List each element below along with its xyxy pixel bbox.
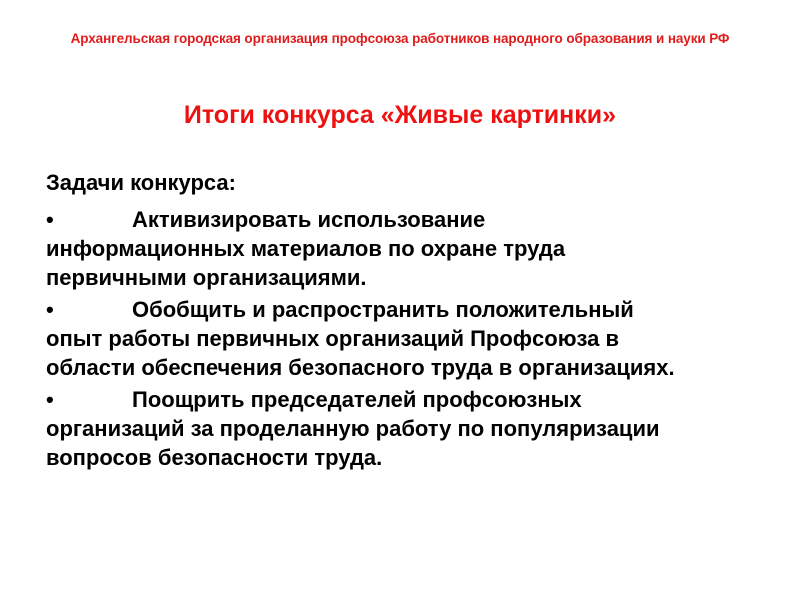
list-item: •Активизировать использование информацио… (46, 205, 686, 292)
bullet-dot-icon: • (46, 295, 132, 324)
slide-title: Итоги конкурса «Живые картинки» (0, 100, 800, 130)
bullet-dot-icon: • (46, 385, 132, 414)
list-item-text: Обобщить и распространить положительный … (46, 297, 675, 380)
organization-name: Архангельская городская организация проф… (71, 31, 730, 47)
body-lead-text: Задачи конкурса: (46, 168, 746, 197)
slide-body: Задачи конкурса: •Активизировать использ… (46, 168, 746, 475)
presentation-slide: Архангельская городская организация проф… (0, 0, 800, 600)
page-title: Итоги конкурса «Живые картинки» (184, 100, 616, 130)
slide-header: Архангельская городская организация проф… (0, 30, 800, 48)
list-item: •Обобщить и распространить положительный… (46, 295, 686, 382)
list-item: •Поощрить председателей профсоюзных орга… (46, 385, 686, 472)
list-item-text: Поощрить председателей профсоюзных орган… (46, 387, 660, 470)
bullet-dot-icon: • (46, 205, 132, 234)
objectives-list: •Активизировать использование информацио… (46, 205, 746, 472)
